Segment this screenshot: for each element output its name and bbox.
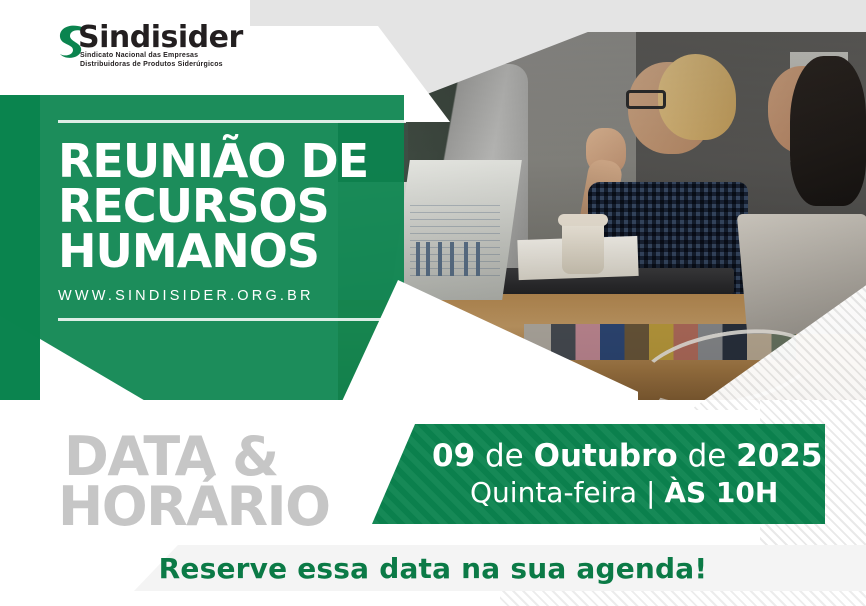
logo-tagline-line1: Sindicato Nacional das Empresas: [80, 52, 198, 59]
time-divider: |: [646, 476, 655, 509]
event-weekday: Quinta-feira: [470, 476, 637, 509]
date-sep-1: de: [485, 438, 524, 474]
event-time-line: Quinta-feira | ÀS 10H: [470, 476, 778, 509]
logo-wordmark: Sindisider: [78, 20, 243, 55]
headline-rule-bottom: [58, 318, 406, 321]
schedule-label: DATA & HORÁRIO: [64, 432, 330, 531]
event-title-line2: RECURSOS: [58, 184, 408, 229]
website-url[interactable]: WWW.SINDISIDER.ORG.BR: [58, 288, 408, 304]
event-announcement-banner: Sindisider Sindicato Nacional das Empres…: [0, 0, 866, 606]
logo-tagline-line2: Distribuidoras de Produtos Siderúrgicos: [80, 61, 223, 68]
headline-block: REUNIÃO DE RECURSOS HUMANOS WWW.SINDISID…: [58, 120, 408, 321]
event-title-line1: REUNIÃO DE: [58, 139, 408, 184]
schedule-label-line2: HORÁRIO: [58, 482, 330, 532]
date-sep-2: de: [688, 438, 727, 474]
event-title-line3: HUMANOS: [58, 229, 408, 274]
cta-text: Reserve essa data na sua agenda!: [0, 552, 866, 585]
event-date-line: 09 de Outubro de 2025: [432, 438, 822, 474]
event-title: REUNIÃO DE RECURSOS HUMANOS: [58, 139, 408, 274]
event-month: Outubro: [534, 438, 678, 474]
headline-rule-top: [58, 120, 406, 123]
event-year: 2025: [736, 438, 822, 474]
sindisider-logo[interactable]: Sindisider Sindicato Nacional das Empres…: [58, 22, 258, 68]
event-day: 09: [432, 438, 475, 474]
event-time: ÀS 10H: [664, 476, 778, 509]
